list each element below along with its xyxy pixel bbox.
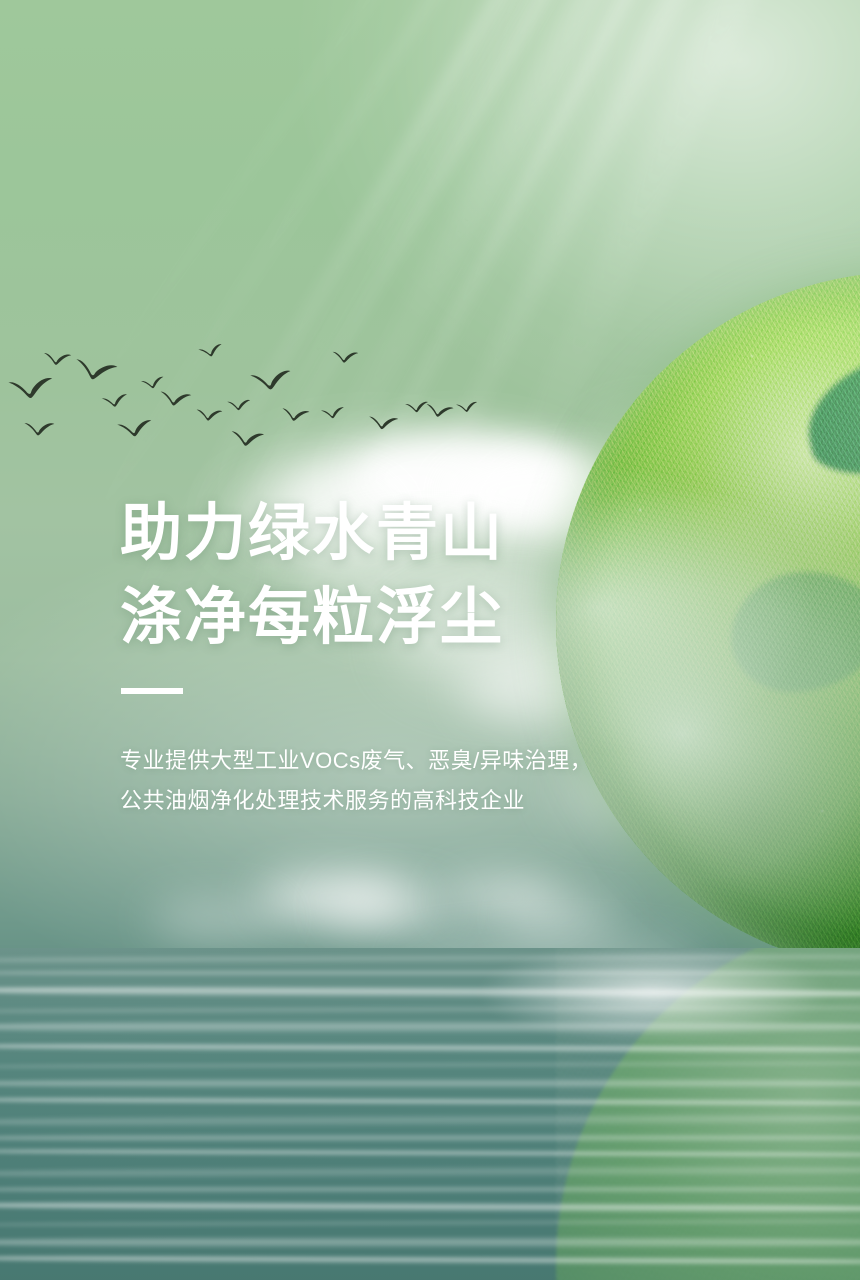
subcopy-line-2: 公共油烟净化处理技术服务的高科技企业 [120, 782, 660, 820]
bird-icon [158, 389, 192, 410]
subcopy-line-1: 专业提供大型工业VOCs废气、恶臭/异味治理， [120, 742, 660, 780]
headline-line-2: 涤净每粒浮尘 [120, 576, 660, 660]
bird-icon [424, 402, 455, 422]
bird-icon [367, 415, 399, 434]
bird-icon [116, 419, 154, 441]
eco-hero-banner: 助力绿水青山 涤净每粒浮尘 专业提供大型工业VOCs废气、恶臭/异味治理， 公共… [0, 0, 860, 1280]
bird-icon [23, 421, 55, 439]
water-ripple [0, 1078, 860, 1089]
bird-icon [101, 393, 129, 410]
bird-icon [331, 350, 359, 366]
bird-icon [320, 406, 345, 421]
bird-icon [42, 351, 72, 369]
water-ripple [0, 1186, 860, 1193]
cloud [150, 902, 280, 936]
bird-icon [227, 399, 252, 413]
bird-icon [455, 401, 478, 415]
bird-icon [249, 369, 293, 395]
bird-icon [195, 408, 223, 424]
water-ripple [0, 970, 860, 976]
headline-divider [121, 688, 183, 694]
hero-copy-block: 助力绿水青山 涤净每粒浮尘 专业提供大型工业VOCs废气、恶臭/异味治理， 公共… [120, 492, 660, 820]
water-ripple [0, 1134, 860, 1142]
bird-icon [280, 406, 310, 425]
bird-icon [7, 376, 55, 403]
bird-icon [229, 429, 265, 451]
water-surface [0, 948, 860, 1280]
headline-line-1: 助力绿水青山 [120, 492, 660, 576]
cloud [330, 888, 450, 924]
water-ripple [0, 1236, 860, 1249]
bird-icon [71, 356, 118, 387]
water-ripple [0, 1020, 860, 1034]
bird-icon [198, 343, 225, 361]
